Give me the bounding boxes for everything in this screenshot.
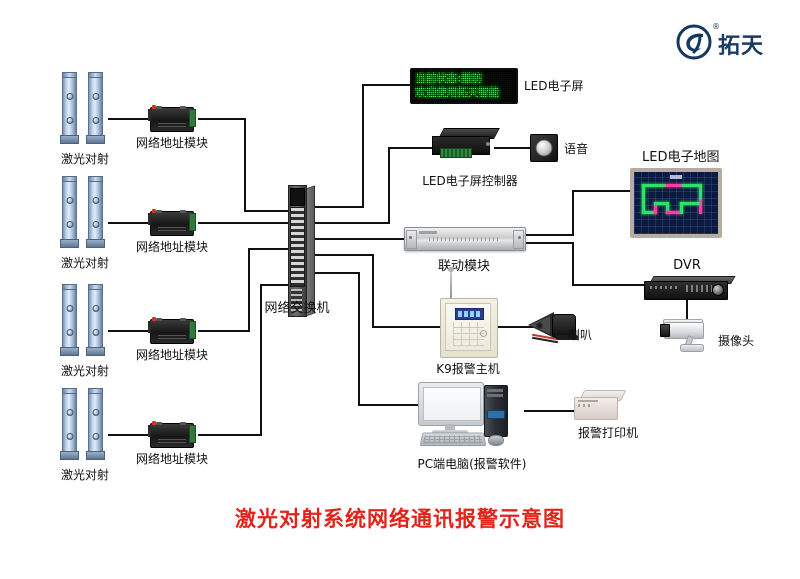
led-map-label: LED电子地图	[642, 146, 719, 165]
laser-lens	[66, 221, 73, 228]
pc-workstation[interactable]	[418, 382, 528, 444]
module-tab-left	[148, 321, 151, 333]
led-screen-line-2: 欢迎使用拓天智能	[415, 86, 513, 99]
wire-module2-switch	[198, 222, 292, 224]
pc-front-panel-display	[487, 410, 505, 419]
network-address-module-4[interactable]	[148, 419, 196, 449]
pc-label: PC端电脑(报警软件)	[418, 455, 527, 472]
map-segment-alarm	[666, 184, 682, 187]
dvr-buttons	[686, 285, 712, 292]
laser-post-right	[88, 72, 103, 138]
laser-lens	[66, 197, 73, 204]
network-switch[interactable]	[288, 185, 314, 315]
mouse[interactable]	[488, 435, 504, 446]
laser-post-left	[62, 176, 77, 242]
wire-laser4-module4	[108, 434, 148, 436]
laser-lens	[66, 409, 73, 416]
voice-speaker-knob	[536, 140, 553, 157]
wire-linkage-map-h1	[524, 234, 574, 236]
wire-linkage-map-v	[572, 190, 574, 236]
led-electronic-map[interactable]	[630, 168, 722, 238]
cctv-camera[interactable]	[660, 318, 716, 354]
wire-switch-k9-v	[372, 254, 374, 328]
module-label-2: 网络地址模块	[136, 238, 208, 255]
printer-label: 报警打印机	[578, 424, 638, 441]
module-print	[158, 439, 186, 445]
module-screw	[156, 106, 162, 109]
laser-post-cap	[88, 388, 103, 394]
module-print	[158, 123, 186, 129]
led-controller-label: LED电子屏控制器	[422, 172, 518, 189]
switch-ports	[290, 207, 305, 287]
wire-module1-v	[244, 118, 246, 212]
wire-linkage-dvr-h2	[572, 284, 644, 286]
laser-post-cap	[62, 176, 77, 182]
laser-detector-pair-2[interactable]	[62, 176, 108, 248]
led-screen-controller[interactable]	[432, 128, 494, 158]
laser-post-right	[88, 284, 103, 350]
monitor-screen	[423, 387, 481, 421]
wire-ledctrl-voice	[494, 147, 530, 149]
wire-module3-switch	[248, 248, 292, 250]
laser-base	[60, 239, 79, 248]
k9-host-label: K9报警主机	[436, 360, 500, 377]
rack-screw-hole	[518, 236, 521, 239]
alarm-printer[interactable]	[574, 390, 622, 422]
module-connector	[189, 109, 196, 127]
alarm-host-panel	[445, 303, 491, 351]
module-screw	[156, 210, 162, 213]
laser-post-cap	[88, 72, 103, 78]
wire-module3-h	[198, 330, 250, 332]
voice-label: 语音	[564, 140, 588, 157]
laser-lens	[92, 329, 99, 336]
led-screen-label: LED电子屏	[524, 77, 584, 94]
wire-laser1-module1	[108, 118, 148, 120]
wire-linkage-map-h2	[572, 190, 630, 192]
controller-terminal-block	[440, 148, 472, 158]
dvr-label: DVR	[673, 258, 701, 273]
antenna	[450, 270, 452, 300]
led-screen-line-1: 当前状态:撤防	[415, 72, 513, 85]
map-header-bar	[670, 175, 682, 179]
map-segment	[642, 184, 645, 214]
laser-post-left	[62, 284, 77, 350]
keyboard-keys	[423, 435, 482, 443]
module-tab-left	[148, 213, 151, 225]
laser-lens	[92, 93, 99, 100]
network-address-module-3[interactable]	[148, 315, 196, 345]
pc-drive-bay	[487, 389, 503, 392]
printer-buttons[interactable]	[578, 404, 592, 407]
laser-post-right	[88, 176, 103, 242]
laser-detector-pair-1[interactable]	[62, 72, 108, 144]
horn-label: 喇叭	[568, 326, 592, 343]
wire-linkage-dvr-h1	[524, 242, 574, 244]
wire-switch-linkage	[300, 238, 404, 240]
swirl-logo-mark-icon	[676, 24, 712, 60]
switch-uplink-bay	[290, 188, 305, 206]
alarm-host-lcd	[455, 308, 484, 320]
laser-lens	[92, 221, 99, 228]
network-address-module-1[interactable]	[148, 103, 196, 133]
camera-body	[664, 322, 704, 339]
laser-detector-pair-3[interactable]	[62, 284, 108, 356]
dvr-recorder[interactable]	[644, 276, 730, 300]
wire-switch-ledscreen-v	[362, 84, 364, 208]
laser-label-1: 激光对射	[61, 150, 109, 167]
network-address-module-2[interactable]	[148, 207, 196, 237]
monitor	[418, 382, 484, 426]
laser-post-cap	[62, 284, 77, 290]
laser-base	[60, 451, 79, 460]
module-screw	[156, 422, 162, 425]
laser-lens	[92, 197, 99, 204]
rack-ear-right	[513, 230, 524, 249]
laser-post-right	[88, 388, 103, 454]
dvr-brand-print	[650, 286, 680, 289]
laser-label-3: 激光对射	[61, 362, 109, 379]
wire-module1-h	[198, 118, 246, 120]
module-body	[150, 107, 194, 132]
diagram-canvas: 激光对射 激光对射 激光对射	[0, 0, 800, 579]
wire-module4-v	[260, 284, 262, 436]
laser-base	[60, 135, 79, 144]
module-connector	[189, 425, 196, 443]
laser-post-cap	[62, 72, 77, 78]
camera-mount	[680, 344, 704, 352]
module-tab-left	[148, 109, 151, 121]
printer-paper-slot	[578, 400, 598, 402]
laser-lens	[66, 329, 73, 336]
antenna-tip	[448, 267, 454, 272]
laser-lens	[66, 433, 73, 440]
laser-post-cap	[62, 388, 77, 394]
wire-linkage-dvr-v	[572, 242, 574, 286]
linkage-module[interactable]	[404, 227, 526, 251]
laser-label-4: 激光对射	[61, 466, 109, 483]
laser-lens	[66, 93, 73, 100]
wire-laser2-module2	[108, 222, 148, 224]
wire-switch-ledscreen-h2	[362, 84, 412, 86]
wire-module1-switch	[244, 210, 292, 212]
diagram-title: 激光对射系统网络通讯报警示意图	[235, 503, 565, 533]
laser-base	[86, 451, 105, 460]
camera-label: 摄像头	[718, 332, 754, 349]
module-screw	[180, 318, 186, 321]
module-label-4: 网络地址模块	[136, 450, 208, 467]
module-tab-left	[148, 425, 151, 437]
laser-detector-pair-4[interactable]	[62, 388, 108, 460]
module-screw	[180, 422, 186, 425]
laser-base	[86, 347, 105, 356]
module-label-3: 网络地址模块	[136, 346, 208, 363]
laser-lens	[66, 117, 73, 124]
laser-lens	[92, 433, 99, 440]
wire-module4-h	[198, 434, 262, 436]
module-screw	[180, 106, 186, 109]
laser-lens	[92, 117, 99, 124]
wire-switch-pc-v	[358, 272, 360, 406]
laser-base	[86, 135, 105, 144]
wire-laser3-module3	[108, 330, 148, 332]
linkage-brand-print	[419, 231, 437, 234]
laser-post-left	[62, 72, 77, 138]
keyboard[interactable]	[420, 432, 487, 446]
module-connector	[189, 321, 196, 339]
module-print	[158, 227, 186, 233]
switch-label: 网络交换机	[264, 297, 329, 316]
pc-drive-bay	[487, 394, 503, 397]
module-connector	[189, 213, 196, 231]
map-segment	[642, 184, 666, 187]
wire-switch-ledctrl-h2	[388, 147, 432, 149]
laser-post-cap	[88, 284, 103, 290]
laser-lens	[92, 409, 99, 416]
laser-base	[86, 239, 105, 248]
horn-throat	[536, 322, 543, 329]
led-display-screen[interactable]: 当前状态:撤防 欢迎使用拓天智能	[410, 68, 518, 104]
rack-screw-hole	[409, 236, 412, 239]
map-grid	[634, 172, 718, 234]
controller-port	[486, 142, 490, 146]
laser-post-left	[62, 388, 77, 454]
laser-lens	[66, 305, 73, 312]
alarm-host-speaker-hole	[480, 330, 487, 337]
module-body	[150, 423, 194, 448]
linkage-port-strip	[429, 237, 501, 241]
k9-alarm-host[interactable]	[440, 298, 496, 358]
brand-logo: ® 拓天	[676, 22, 786, 62]
rack-ear-left	[406, 230, 417, 249]
wire-pc-printer	[524, 410, 574, 412]
linkage-module-label: 联动模块	[438, 255, 490, 274]
module-body	[150, 319, 194, 344]
wire-switch-ledctrl-v	[388, 147, 390, 224]
laser-post-cap	[88, 176, 103, 182]
wire-switch-k9-h2	[372, 326, 440, 328]
module-body	[150, 211, 194, 236]
camera-lens	[660, 324, 670, 337]
brand-name: 拓天	[718, 28, 764, 60]
laser-label-2: 激光对射	[61, 254, 109, 271]
module-label-1: 网络地址模块	[136, 134, 208, 151]
laser-lens	[92, 305, 99, 312]
voice-module[interactable]	[530, 134, 558, 162]
wire-module3-v	[248, 248, 250, 332]
map-segment	[680, 202, 700, 205]
dvr-jog-dial	[712, 284, 724, 296]
module-screw	[156, 318, 162, 321]
module-print	[158, 335, 186, 341]
wire-switch-pc-h2	[358, 404, 418, 406]
module-screw	[180, 210, 186, 213]
laser-base	[60, 347, 79, 356]
